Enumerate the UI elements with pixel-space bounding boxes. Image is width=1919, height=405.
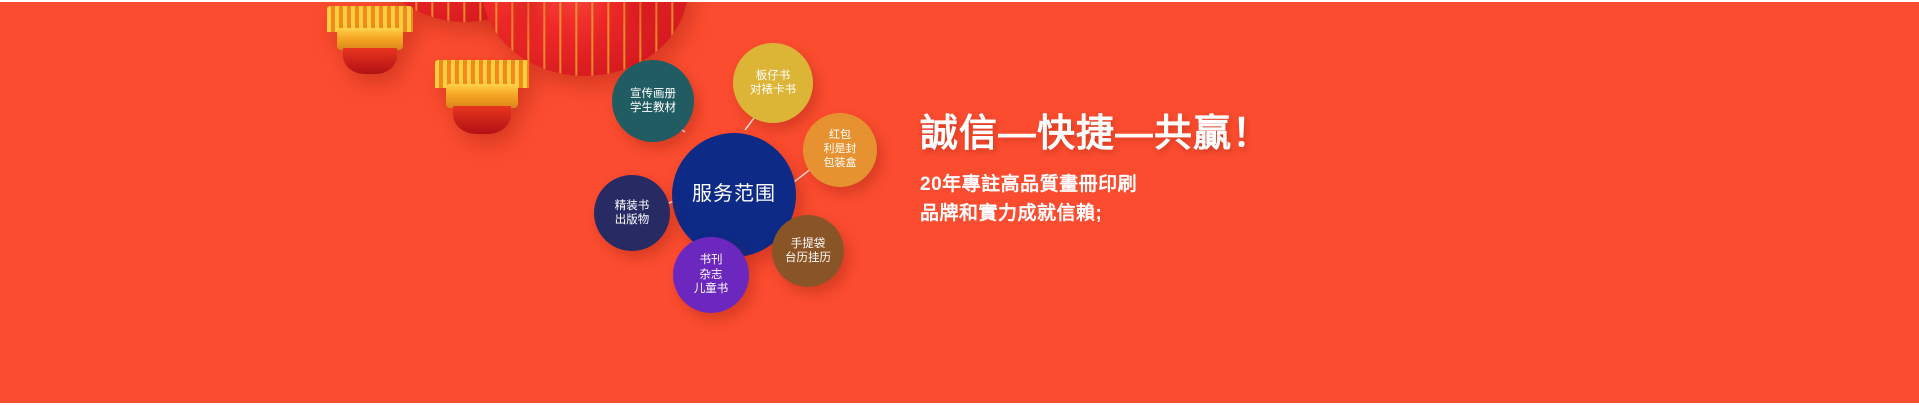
diagram-node-magazine[interactable]: 书刊 杂志 儿童书 xyxy=(673,237,749,313)
node-label-line: 书刊 xyxy=(700,253,723,267)
slogan-block: 誠信—快捷—共贏！ 20年專註高品質畫冊印刷 品牌和實力成就信賴; xyxy=(920,114,1271,229)
node-label-line: 利是封 xyxy=(824,143,857,157)
node-label-line: 精装书 xyxy=(615,199,650,213)
slogan-subline-2: 品牌和實力成就信賴; xyxy=(920,199,1271,228)
node-label-line: 学生教材 xyxy=(630,101,676,115)
node-label-line: 杂志 xyxy=(700,268,723,282)
slogan-headline: 誠信—快捷—共贏！ xyxy=(920,114,1271,156)
diagram-node-bag[interactable]: 手提袋 台历挂历 xyxy=(772,215,844,287)
node-label-line: 包装盒 xyxy=(824,157,857,171)
node-label-line: 出版物 xyxy=(615,213,650,227)
diagram-node-hardcover[interactable]: 精装书 出版物 xyxy=(594,175,670,251)
slogan-subline-1: 20年專註高品質畫冊印刷 xyxy=(920,170,1271,199)
diagram-node-redpacket[interactable]: 红包 利是封 包装盒 xyxy=(803,113,877,187)
node-label-line: 儿童书 xyxy=(694,282,729,296)
diagram-node-promo[interactable]: 宣传画册 学生教材 xyxy=(612,60,694,142)
node-label-line: 宣传画册 xyxy=(630,87,676,101)
promo-banner: 福 福 xyxy=(0,0,1919,405)
node-label-line: 台历挂历 xyxy=(785,251,831,265)
node-label-line: 板仔书 xyxy=(756,69,791,83)
node-label-line: 手提袋 xyxy=(791,237,826,251)
slogan-subtext: 20年專註高品質畫冊印刷 品牌和實力成就信賴; xyxy=(920,170,1271,229)
center-node-label: 服务范围 xyxy=(692,182,776,207)
node-label-line: 红包 xyxy=(829,129,851,143)
diagram-node-board[interactable]: 板仔书 对裱卡书 xyxy=(733,43,813,123)
node-label-line: 对裱卡书 xyxy=(750,83,796,97)
